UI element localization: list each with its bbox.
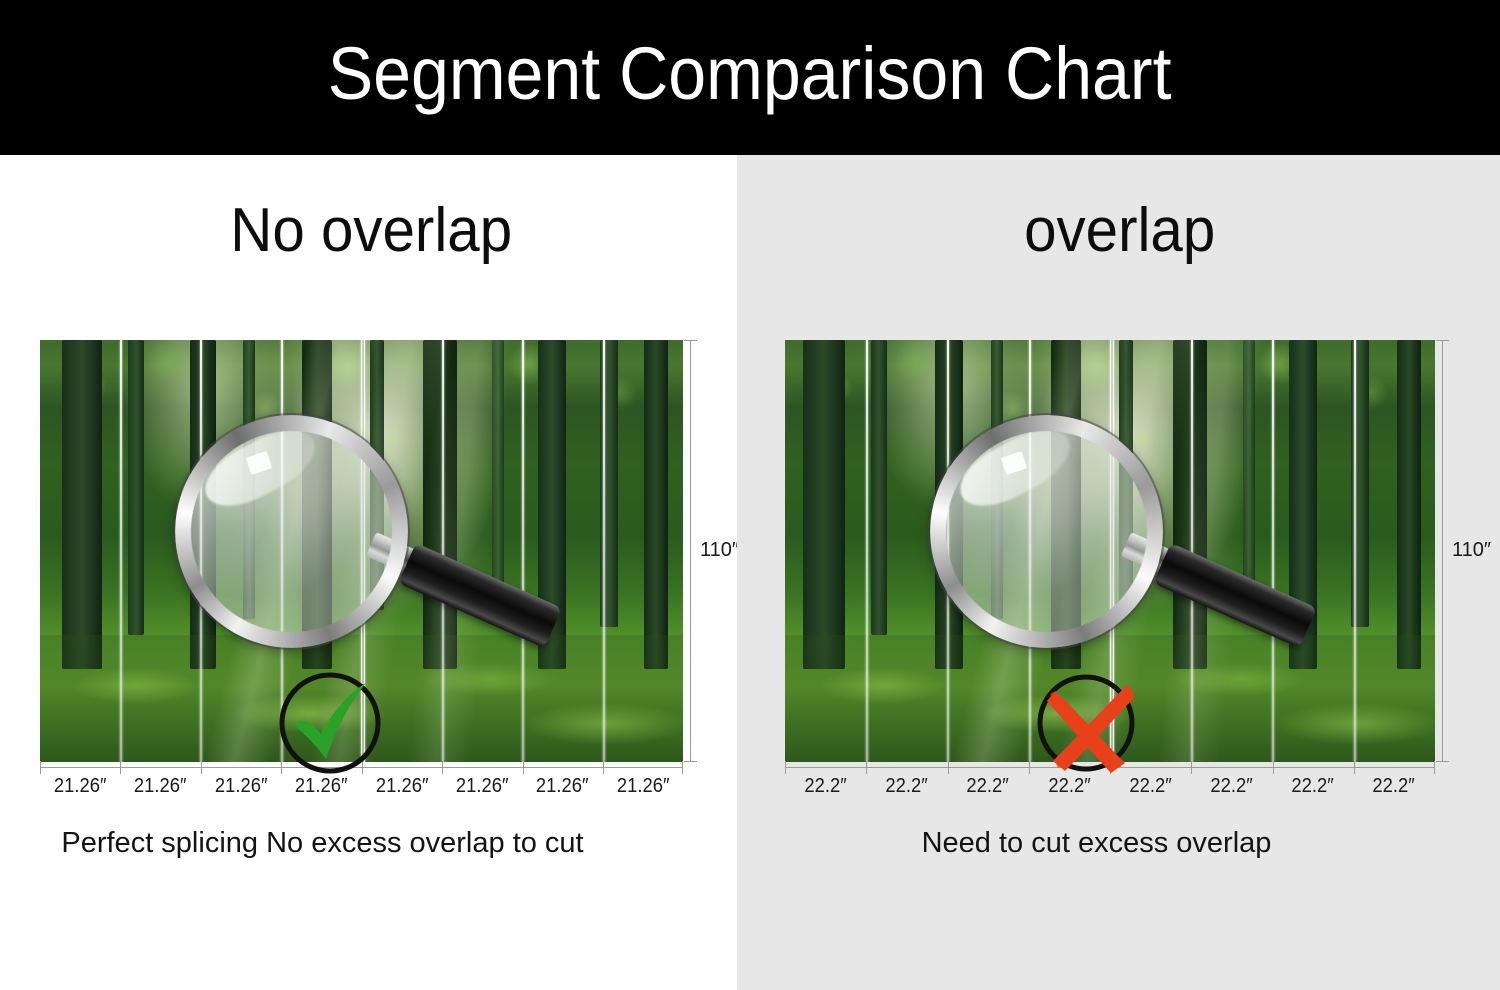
tree-trunk xyxy=(803,340,845,669)
tree-trunk xyxy=(1243,340,1255,602)
segment-label: 21.26″ xyxy=(525,775,599,798)
tree-trunk xyxy=(1173,340,1207,669)
magnifier-lens xyxy=(930,415,1163,648)
magnifier-icon xyxy=(930,415,1163,648)
panel-no-overlap: No overlap xyxy=(0,155,737,990)
segment-seam xyxy=(120,340,122,762)
segment-label: 22.2″ xyxy=(1357,775,1432,798)
segment-label: 22.2″ xyxy=(869,775,944,798)
height-dimension-line xyxy=(690,340,691,762)
panel-overlap: overlap xyxy=(737,155,1500,990)
panel-heading-overlap: overlap xyxy=(761,200,1500,262)
magnifier-icon xyxy=(175,415,408,648)
magnifier-ring xyxy=(175,415,408,648)
comparison-panels: No overlap xyxy=(0,155,1500,990)
tree-trunk xyxy=(492,340,504,602)
segment-label: 21.26″ xyxy=(43,775,117,798)
tree-trunk xyxy=(871,340,887,635)
segment-label: 21.26″ xyxy=(445,775,519,798)
segment-label: 22.2″ xyxy=(1275,775,1350,798)
cross-mark-icon xyxy=(1031,667,1147,779)
segment-label: 21.26″ xyxy=(124,775,198,798)
segment-seam xyxy=(603,340,605,762)
tree-trunk xyxy=(1397,340,1421,669)
segment-label: 21.26″ xyxy=(204,775,278,798)
segment-seam xyxy=(1272,340,1274,762)
tree-trunk xyxy=(644,340,668,669)
magnifier-lens xyxy=(175,415,408,648)
height-dimension-label: 110″ xyxy=(1452,539,1491,562)
magnifier-ring xyxy=(930,415,1163,648)
caption-overlap: Need to cut excess overlap xyxy=(715,827,1478,860)
segment-comparison-chart: Segment Comparison Chart No overlap xyxy=(0,0,1500,990)
caption-no-overlap: Perfect splicing No excess overlap to cu… xyxy=(0,827,691,860)
height-dimension-label: 110″ xyxy=(700,539,739,562)
segment-seam xyxy=(522,340,524,762)
segment-label: 22.2″ xyxy=(788,775,863,798)
height-dimension-line xyxy=(1442,340,1443,762)
segment-seam xyxy=(866,340,868,762)
segment-label: 22.2″ xyxy=(951,775,1026,798)
title-bar: Segment Comparison Chart xyxy=(0,0,1500,155)
segment-label: 21.26″ xyxy=(606,775,680,798)
segment-seam xyxy=(1354,340,1356,762)
panel-heading-no-overlap: No overlap xyxy=(25,200,802,262)
tree-trunk xyxy=(128,340,144,635)
page-title: Segment Comparison Chart xyxy=(328,37,1172,119)
check-mark-icon xyxy=(272,667,388,779)
tree-trunk xyxy=(62,340,102,669)
tree-trunk xyxy=(423,340,457,669)
segment-label: 22.2″ xyxy=(1194,775,1269,798)
segment-seam xyxy=(442,340,444,762)
